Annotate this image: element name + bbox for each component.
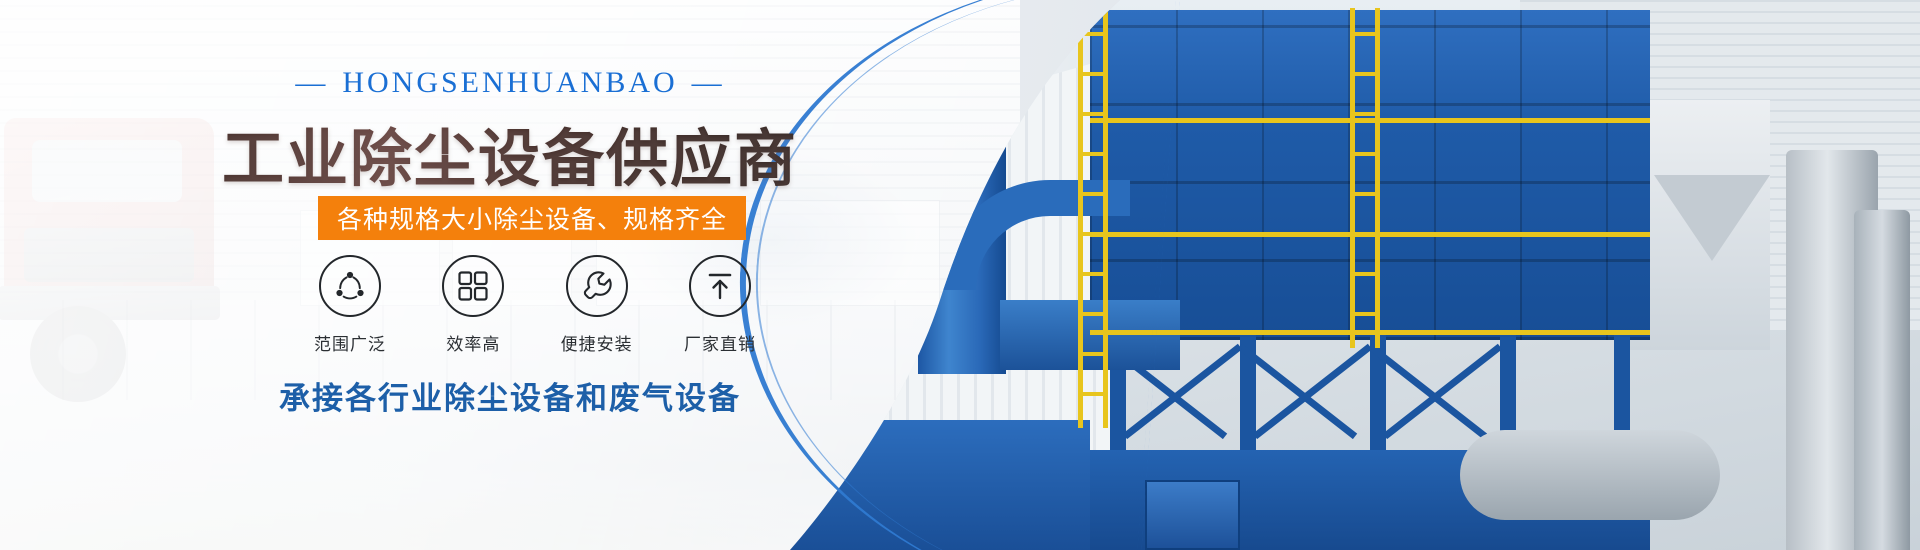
- eyebrow-dash-left: —: [295, 66, 328, 100]
- banner-tagline: 承接各行业除尘设备和废气设备: [0, 373, 1020, 418]
- feature-label: 范围广泛: [314, 330, 386, 355]
- yellow-handrail: [1090, 232, 1650, 237]
- brand-eyebrow: —HONGSENHUANBAO—: [0, 66, 1020, 100]
- feature-icon-ring: [566, 255, 628, 317]
- grey-pipe: [1460, 430, 1720, 520]
- hero-banner: —HONGSENHUANBAO— 工业除尘设备供应商 各种规格大小除尘设备、规格…: [0, 0, 1920, 550]
- feature-label: 厂家直销: [684, 330, 756, 355]
- share-nodes-icon: [333, 269, 367, 303]
- yellow-handrail: [1090, 118, 1650, 123]
- wrench-icon: [580, 269, 614, 303]
- banner-content: —HONGSENHUANBAO— 工业除尘设备供应商 各种规格大小除尘设备、规格…: [0, 0, 1020, 550]
- feature-item-factory-direct[interactable]: 厂家直销: [670, 255, 770, 355]
- feature-label: 便捷安装: [561, 330, 633, 355]
- feature-label: 效率高: [446, 330, 500, 355]
- eyebrow-text: HONGSENHUANBAO: [342, 66, 677, 99]
- feature-icon-ring: [689, 255, 751, 317]
- yellow-ladder: [1350, 8, 1380, 348]
- arrow-up-to-bar-icon: [704, 270, 736, 302]
- subtitle-orange-bar: 各种规格大小除尘设备、规格齐全: [318, 196, 746, 240]
- metal-silo-2: [1854, 210, 1910, 550]
- page-title: 工业除尘设备供应商: [0, 108, 1020, 198]
- feature-icon-ring: [319, 255, 381, 317]
- feature-icon-ring: [442, 255, 504, 317]
- eyebrow-dash-right: —: [692, 66, 725, 100]
- feature-item-range[interactable]: 范围广泛: [300, 255, 400, 355]
- feature-item-installation[interactable]: 便捷安装: [547, 255, 647, 355]
- feature-item-efficiency[interactable]: 效率高: [423, 255, 523, 355]
- grid-four-squares-icon: [457, 270, 489, 302]
- yellow-handrail: [1090, 330, 1650, 335]
- subtitle-text: 各种规格大小除尘设备、规格齐全: [337, 200, 727, 236]
- feature-list: 范围广泛 效率高: [300, 255, 770, 355]
- hopper-cone: [1654, 175, 1770, 261]
- yellow-ladder: [1078, 8, 1108, 428]
- access-door: [1145, 480, 1240, 550]
